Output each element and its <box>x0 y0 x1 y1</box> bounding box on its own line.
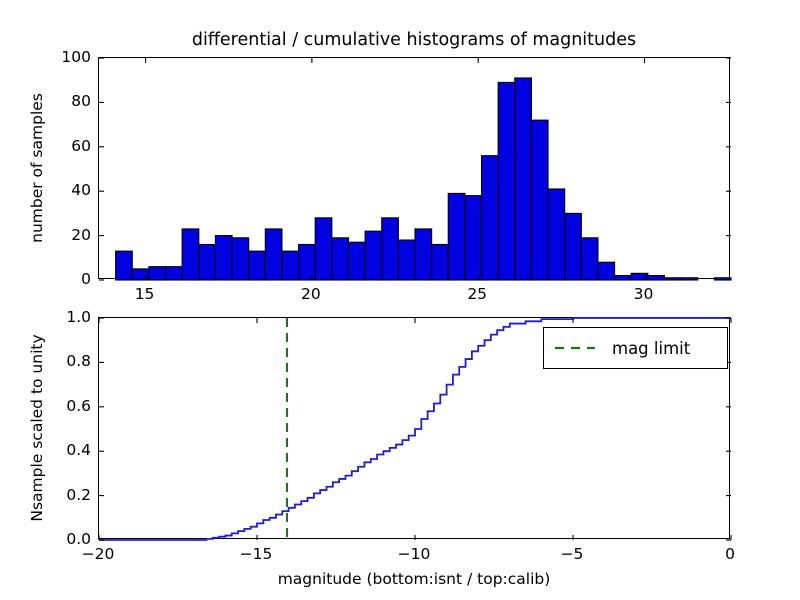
histogram-bar <box>348 242 365 280</box>
histogram-bar <box>615 276 632 280</box>
bottom-ytick-0.6: 0.6 <box>66 397 91 415</box>
histogram-plot-area <box>99 58 731 280</box>
bottom-panel-ylabel: Nsample scaled to unity <box>28 317 46 539</box>
histogram-bar <box>282 251 299 280</box>
histogram-bar <box>548 189 565 280</box>
histogram-bar <box>515 78 532 280</box>
histogram-bar <box>132 269 149 280</box>
figure-title: differential / cumulative histograms of … <box>98 30 730 50</box>
bottom-ytick-1.0: 1.0 <box>66 308 91 326</box>
bottom-ytick-0.2: 0.2 <box>66 486 91 504</box>
histogram-bar <box>149 267 166 280</box>
histogram-bar <box>265 229 282 280</box>
top-ytick-60: 60 <box>71 137 91 155</box>
histogram-bar <box>432 244 449 280</box>
histogram-bar <box>498 82 515 280</box>
histogram-bar <box>232 238 249 280</box>
histogram-bar <box>166 267 183 280</box>
histogram-bar <box>681 278 698 280</box>
histogram-bar <box>482 156 499 280</box>
top-xtick-25: 25 <box>467 285 487 303</box>
top-ytick-0: 0 <box>81 270 91 288</box>
top-xtick-15: 15 <box>135 285 155 303</box>
histogram-bar <box>565 213 582 280</box>
histogram-bar <box>315 218 332 280</box>
histogram-bar <box>398 240 415 280</box>
top-panel-ylabel: number of samples <box>28 57 46 279</box>
bottom-xtick-0: 0 <box>725 545 735 563</box>
mag-limit-legend-line-icon <box>554 341 596 355</box>
histogram-bar <box>332 238 349 280</box>
legend-label-mag-limit: mag limit <box>612 339 690 358</box>
top-ytick-100: 100 <box>61 48 91 66</box>
histogram-bar <box>415 229 432 280</box>
figure-xlabel: magnitude (bottom:isnt / top:calib) <box>98 570 730 588</box>
bottom-xtick--5: −5 <box>561 545 584 563</box>
bottom-ytick-0.8: 0.8 <box>66 352 91 370</box>
histogram-bar <box>598 262 615 280</box>
histogram-bar <box>382 218 399 280</box>
histogram-bar <box>631 273 648 280</box>
top-ytick-80: 80 <box>71 92 91 110</box>
histogram-bar <box>116 251 133 280</box>
histogram-bar <box>215 236 232 280</box>
histogram-bar <box>465 196 482 280</box>
histogram-bar <box>249 251 266 280</box>
top-xtick-30: 30 <box>634 285 654 303</box>
histogram-bar <box>664 278 681 280</box>
histogram-bar <box>182 229 199 280</box>
top-xtick-20: 20 <box>301 285 321 303</box>
top-ytick-20: 20 <box>71 226 91 244</box>
matplotlib-figure: differential / cumulative histograms of … <box>0 0 800 600</box>
bottom-xtick--15: −15 <box>240 545 273 563</box>
histogram-bar <box>299 244 316 280</box>
top-panel-axes <box>98 57 730 279</box>
bottom-xtick--10: −10 <box>398 545 431 563</box>
bottom-xtick--20: −20 <box>82 545 115 563</box>
legend: mag limit <box>543 327 728 369</box>
top-ytick-40: 40 <box>71 181 91 199</box>
histogram-bar <box>648 276 665 280</box>
bottom-ytick-0.4: 0.4 <box>66 441 91 459</box>
histogram-bar <box>581 238 598 280</box>
histogram-bar <box>199 244 216 280</box>
histogram-bar <box>531 120 548 280</box>
histogram-bar <box>365 231 382 280</box>
histogram-bar <box>448 193 465 280</box>
